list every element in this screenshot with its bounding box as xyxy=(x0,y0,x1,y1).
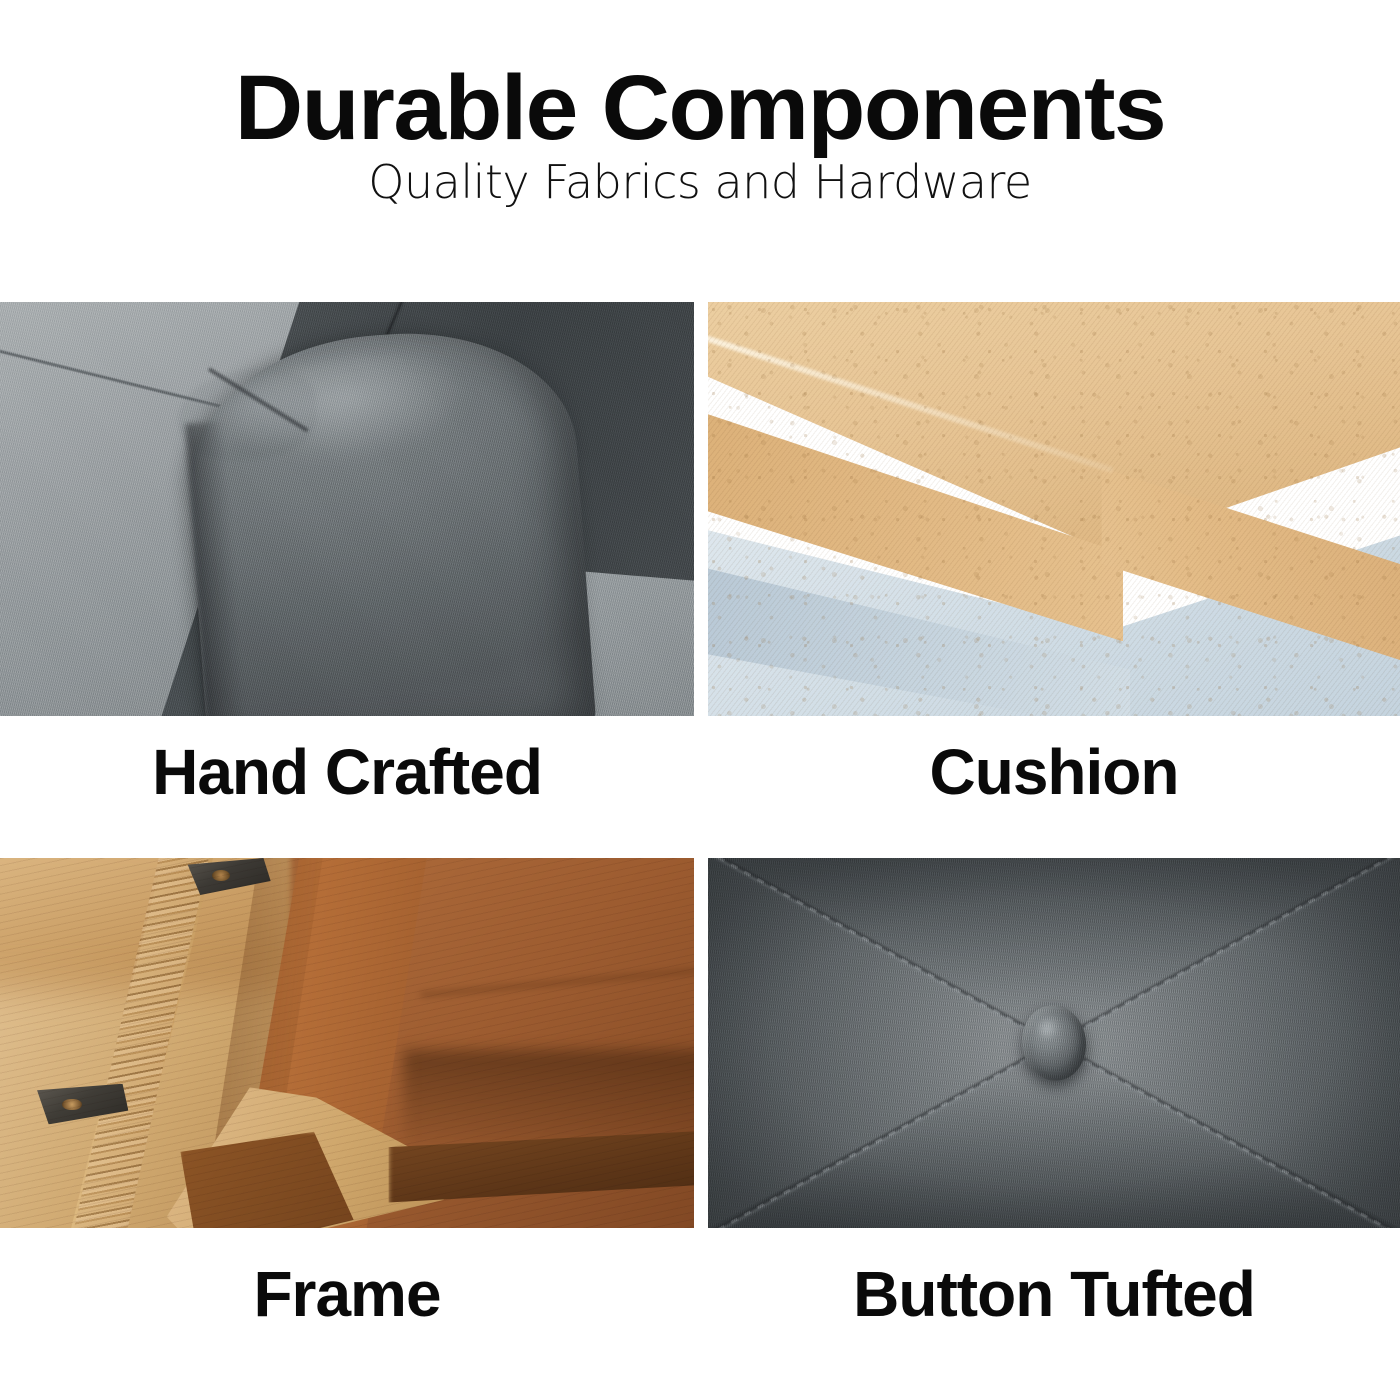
wood-grain-texture xyxy=(0,858,694,1228)
caption-cushion: Cushion xyxy=(708,740,1400,804)
photo-cushion xyxy=(708,302,1400,716)
infographic-page: Durable Components Quality Fabrics and H… xyxy=(0,0,1400,1400)
photo-vignette xyxy=(708,858,1400,1228)
caption-frame: Frame xyxy=(0,1262,694,1326)
header: Durable Components Quality Fabrics and H… xyxy=(0,0,1400,297)
page-title: Durable Components xyxy=(0,62,1400,154)
velvet-nap-texture xyxy=(0,302,694,716)
panel-cushion xyxy=(708,302,1400,716)
page-subtitle: Quality Fabrics and Hardware xyxy=(0,157,1400,207)
panel-frame xyxy=(0,858,694,1228)
panel-hand-crafted xyxy=(0,302,694,716)
foam-grain-texture xyxy=(708,302,1400,716)
panel-button-tufted xyxy=(708,858,1400,1228)
photo-hand-crafted xyxy=(0,302,694,716)
caption-hand-crafted: Hand Crafted xyxy=(0,740,694,804)
photo-frame xyxy=(0,858,694,1228)
photo-button-tufted xyxy=(708,858,1400,1228)
caption-button-tufted: Button Tufted xyxy=(708,1262,1400,1326)
